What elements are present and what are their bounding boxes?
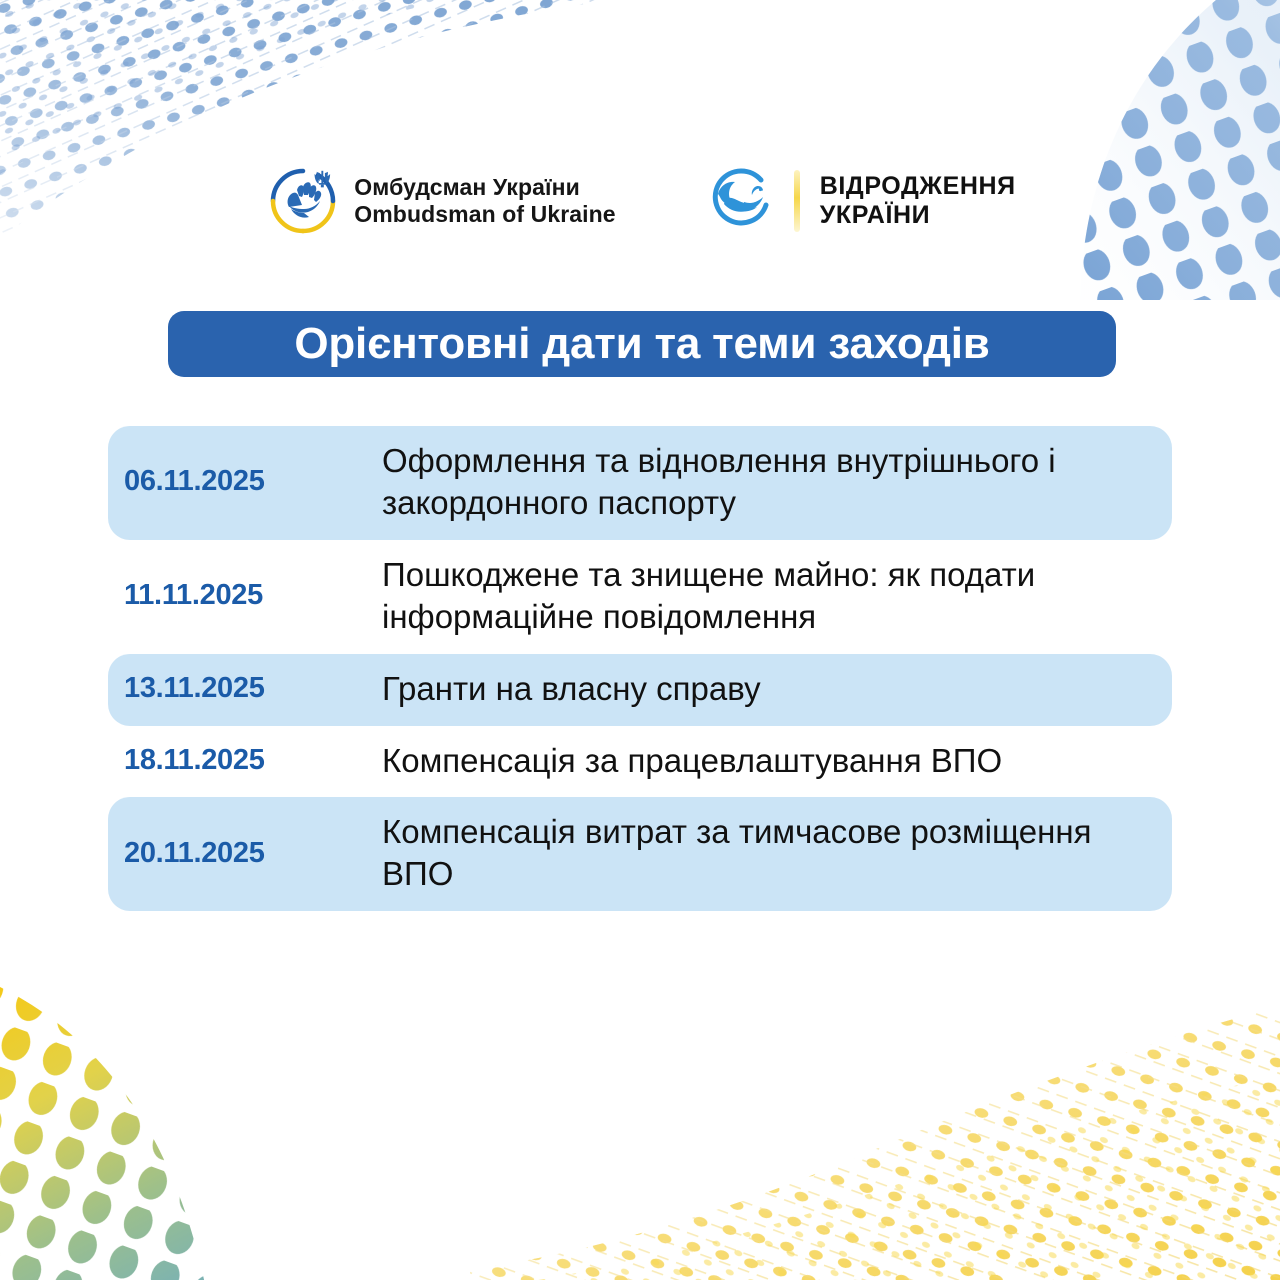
event-topic: Компенсація за працевлаштування ВПО bbox=[382, 740, 1172, 782]
vidrodzhennya-line-2: УКРАЇНИ bbox=[820, 201, 1016, 230]
ombudsman-logo-text: Омбудсман України Ombudsman of Ukraine bbox=[354, 174, 615, 228]
event-topic: Компенсація витрат за тимчасове розміщен… bbox=[382, 811, 1172, 895]
schedule-list: 06.11.2025 Оформлення та відновлення вну… bbox=[108, 426, 1172, 911]
decoration-top-left-blue-dot-wave bbox=[0, 0, 740, 290]
page-title: Орієнтовні дати та теми заходів bbox=[294, 319, 989, 369]
phoenix-bird-circle-logo bbox=[704, 164, 778, 238]
ombudsman-logo: Омбудсман України Ombudsman of Ukraine bbox=[264, 162, 615, 240]
table-row[interactable]: 06.11.2025 Оформлення та відновлення вну… bbox=[108, 426, 1172, 540]
event-date: 20.11.2025 bbox=[108, 837, 382, 870]
event-date: 06.11.2025 bbox=[108, 465, 382, 498]
ombudsman-dove-trident-logo bbox=[264, 162, 342, 240]
decoration-bottom-right-yellow-dot-wave bbox=[470, 1010, 1280, 1280]
event-topic: Оформлення та відновлення внутрішнього і… bbox=[382, 440, 1172, 524]
event-date: 11.11.2025 bbox=[108, 579, 382, 612]
vidrodzhennya-line-1: ВІДРОДЖЕННЯ bbox=[820, 172, 1016, 201]
event-topic: Пошкоджене та знищене майно: як подати і… bbox=[382, 554, 1172, 638]
event-date: 13.11.2025 bbox=[108, 672, 382, 705]
event-topic: Гранти на власну справу bbox=[382, 668, 1172, 710]
table-row[interactable]: 18.11.2025 Компенсація за працевлаштуван… bbox=[108, 726, 1172, 798]
ombudsman-name-en: Ombudsman of Ukraine bbox=[354, 201, 615, 228]
logo-header: Омбудсман України Ombudsman of Ukraine В… bbox=[0, 162, 1280, 240]
page-title-banner: Орієнтовні дати та теми заходів bbox=[168, 311, 1116, 377]
vidrodzhennya-logo: ВІДРОДЖЕННЯ УКРАЇНИ bbox=[704, 164, 1016, 238]
vidrodzhennya-logo-text: ВІДРОДЖЕННЯ УКРАЇНИ bbox=[820, 172, 1016, 230]
table-row[interactable]: 11.11.2025 Пошкоджене та знищене майно: … bbox=[108, 540, 1172, 654]
table-row[interactable]: 13.11.2025 Гранти на власну справу bbox=[108, 654, 1172, 726]
decoration-top-right-blue-ellipse-grid bbox=[930, 0, 1280, 300]
ombudsman-name-uk: Омбудсман України bbox=[354, 174, 615, 201]
event-date: 18.11.2025 bbox=[108, 744, 382, 777]
decoration-bottom-left-multicolor-ellipse-grid bbox=[0, 970, 310, 1280]
table-row[interactable]: 20.11.2025 Компенсація витрат за тимчасо… bbox=[108, 797, 1172, 911]
logo-divider bbox=[794, 170, 800, 232]
poster-canvas: Омбудсман України Ombudsman of Ukraine В… bbox=[0, 0, 1280, 1280]
